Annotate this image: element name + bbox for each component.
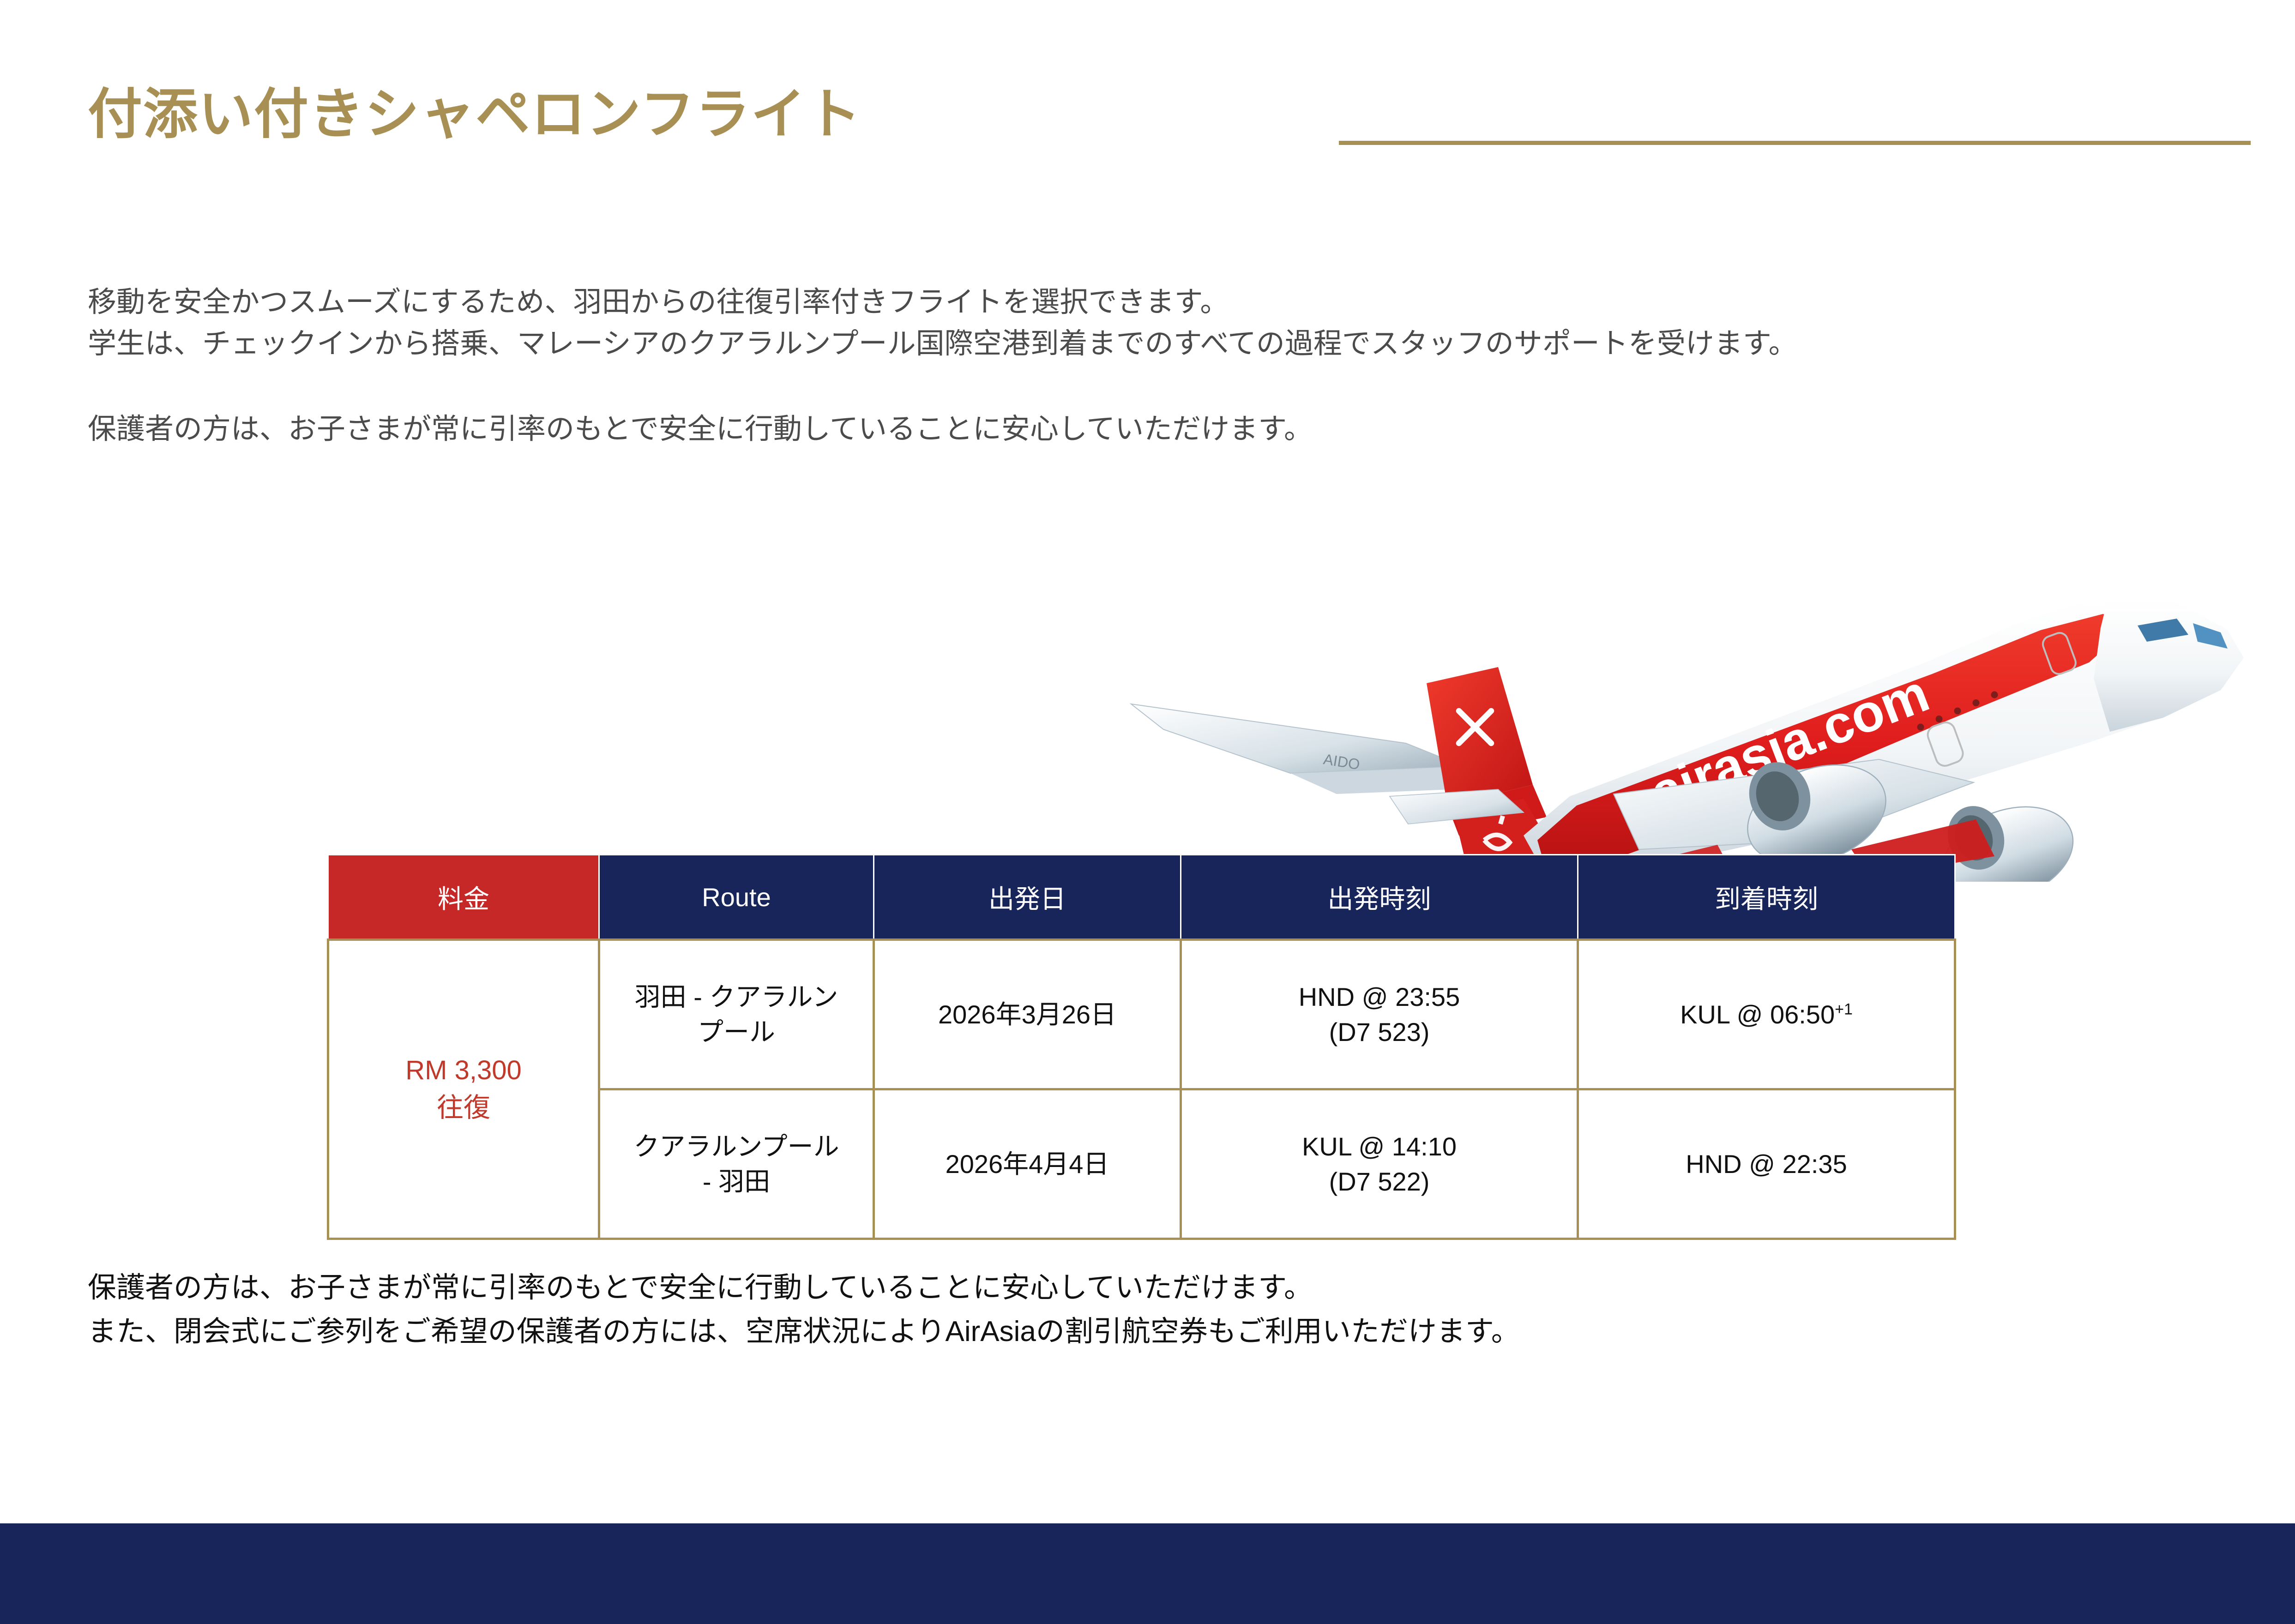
column-header-departure-date: 出発日 (874, 855, 1181, 940)
slide-canvas: 付添い付きシャペロンフライト 移動を安全かつスムーズにするため、羽田からの往復引… (0, 0, 2295, 1624)
departure-time: KUL @ 14:10 (1188, 1129, 1570, 1164)
route-line-1: クアラルンプール (607, 1129, 866, 1164)
flight-schedule-table: 料金 Route 出発日 出発時刻 到着時刻 RM 3,300 往復 羽田 - … (327, 854, 1956, 1240)
route-cell-outbound: 羽田 - クアラルン プール (599, 940, 874, 1089)
intro-paragraph-line-3: 保護者の方は、お子さまが常に引率のもとで安全に行動していることに安心していただけ… (88, 409, 1313, 451)
arrival-time-cell-return: HND @ 22:35 (1578, 1089, 1955, 1239)
route-cell-return: クアラルンプール - 羽田 (599, 1089, 874, 1239)
route-line-1: 羽田 - クアラルン (607, 980, 866, 1014)
departure-flight-number: (D7 522) (1188, 1164, 1570, 1199)
departure-time-cell-return: KUL @ 14:10 (D7 522) (1181, 1089, 1578, 1239)
departure-time-cell-outbound: HND @ 23:55 (D7 523) (1181, 940, 1578, 1089)
arrival-time: KUL @ 06:50 (1680, 1000, 1835, 1029)
arrival-time: HND @ 22:35 (1686, 1149, 1847, 1179)
bottom-accent-bar (0, 1523, 2295, 1624)
fare-amount: RM 3,300 (336, 1052, 591, 1089)
route-line-2: プール (607, 1015, 866, 1049)
airplane-image: AIDO (1117, 568, 2271, 882)
wing-marking-text: AIDO (1322, 751, 1361, 773)
intro-paragraph-line-1: 移動を安全かつスムーズにするため、羽田からの往復引率付きフライトを選択できます。 (88, 282, 1229, 324)
table-header-row: 料金 Route 出発日 出発時刻 到着時刻 (328, 855, 1955, 940)
departure-date-cell-outbound: 2026年3月26日 (874, 940, 1181, 1089)
departure-flight-number: (D7 523) (1188, 1015, 1570, 1049)
fare-trip-type: 往復 (336, 1089, 591, 1126)
cockpit-windows-icon (2138, 619, 2228, 649)
footer-note-line-2: また、閉会式にご参列をご希望の保護者の方には、空席状況によりAirAsiaの割引… (88, 1311, 1520, 1353)
intro-paragraph-line-2: 学生は、チェックインから搭乗、マレーシアのクアラルンプール国際空港到着までのすべ… (88, 323, 1797, 365)
column-header-route: Route (599, 855, 874, 940)
title-divider-rule (1339, 141, 2251, 145)
livery-text: airasia.com (1643, 663, 1937, 823)
title-block: 付添い付きシャペロンフライト (88, 81, 2258, 173)
column-header-fare: 料金 (328, 855, 599, 940)
route-line-2: - 羽田 (607, 1164, 866, 1199)
airasia-tail-logo-icon (1459, 711, 1491, 743)
departure-time: HND @ 23:55 (1188, 980, 1570, 1014)
arrival-time-cell-outbound: KUL @ 06:50+1 (1578, 940, 1955, 1089)
departure-date-cell-return: 2026年4月4日 (874, 1089, 1181, 1239)
page-title: 付添い付きシャペロンフライト (88, 81, 861, 149)
fare-cell: RM 3,300 往復 (328, 940, 599, 1239)
column-header-arrival-time: 到着時刻 (1578, 855, 1955, 940)
arrival-day-offset: +1 (1835, 1000, 1853, 1018)
table-row: RM 3,300 往復 羽田 - クアラルン プール 2026年3月26日 HN… (328, 940, 1955, 1089)
column-header-departure-time: 出発時刻 (1181, 855, 1578, 940)
footer-note-line-1: 保護者の方は、お子さまが常に引率のもとで安全に行動していることに安心していただけ… (88, 1267, 1313, 1309)
